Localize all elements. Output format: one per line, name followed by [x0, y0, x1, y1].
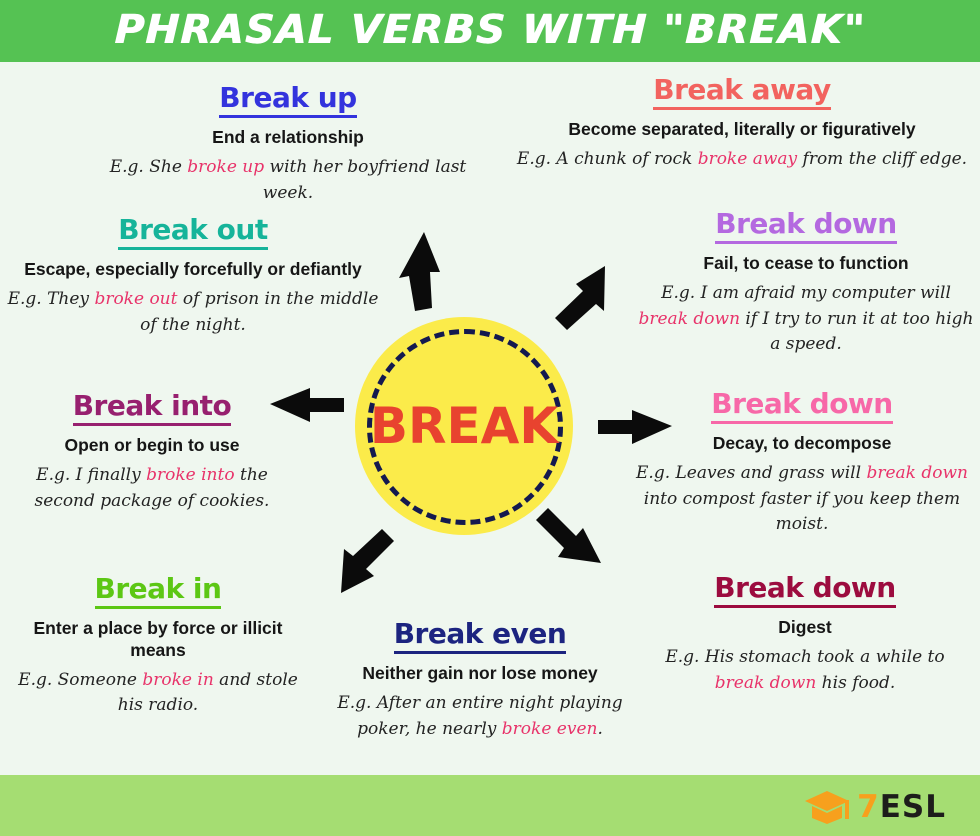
graduation-cap-icon: [804, 789, 850, 825]
infographic-root: PHRASAL VERBS WITH "BREAK" BREAK: [0, 0, 980, 836]
entry-definition: Decay, to decompose: [626, 433, 978, 455]
example-prefix: E.g. She: [110, 157, 188, 177]
entry-break-down-fail: Break down Fail, to cease to function E.…: [636, 208, 976, 358]
example-suffix: if I try to run it at too high a speed.: [740, 309, 973, 355]
entry-definition: Open or begin to use: [4, 435, 300, 457]
arrow-up-icon: [399, 232, 440, 311]
entry-break-in: Break in Enter a place by force or illic…: [8, 573, 308, 719]
example-highlight: break down: [866, 463, 968, 483]
example-highlight: broke even: [502, 719, 598, 739]
entry-title: Break down: [715, 208, 896, 244]
logo-seven: 7: [857, 789, 880, 825]
entry-break-away: Break away Become separated, literally o…: [516, 74, 968, 173]
example-prefix: E.g. A chunk of rock: [517, 149, 698, 169]
site-logo[interactable]: 7ESL: [804, 787, 946, 827]
entry-break-into: Break into Open or begin to use E.g. I f…: [4, 390, 300, 514]
entry-title: Break in: [95, 573, 222, 609]
entry-example: E.g. They broke out of prison in the mid…: [0, 287, 386, 338]
logo-text: 7ESL: [857, 792, 946, 823]
example-prefix: E.g. Someone: [18, 670, 142, 690]
page-title: PHRASAL VERBS WITH "BREAK": [0, 0, 980, 62]
example-suffix: into compost faster if you keep them moi…: [644, 489, 960, 535]
entry-break-down-decay: Break down Decay, to decompose E.g. Leav…: [626, 388, 978, 538]
entry-title: Break away: [653, 74, 830, 110]
example-prefix: E.g. His stomach took a while to: [665, 647, 944, 667]
entry-definition: End a relationship: [88, 127, 488, 149]
entry-example: E.g. His stomach took a while to break d…: [640, 645, 970, 696]
example-highlight: break down: [638, 309, 740, 329]
entry-title: Break down: [714, 572, 895, 608]
example-prefix: E.g. I finally: [36, 465, 146, 485]
entry-title: Break down: [711, 388, 892, 424]
central-hub: BREAK: [355, 317, 573, 535]
example-highlight: broke into: [146, 465, 234, 485]
entry-break-up: Break up End a relationship E.g. She bro…: [88, 82, 488, 206]
entry-definition: Enter a place by force or illicit means: [8, 618, 308, 662]
example-prefix: E.g. Leaves and grass will: [636, 463, 866, 483]
arrow-down-left-icon: [341, 529, 394, 593]
entry-break-down-digest: Break down Digest E.g. His stomach took …: [640, 572, 970, 696]
entry-example: E.g. A chunk of rock broke away from the…: [516, 147, 968, 173]
example-prefix: E.g. I am afraid my computer will: [661, 283, 951, 303]
example-highlight: broke in: [142, 670, 213, 690]
entry-example: E.g. She broke up with her boyfriend las…: [88, 155, 488, 206]
example-highlight: broke away: [698, 149, 797, 169]
entry-title: Break out: [118, 214, 267, 250]
entry-definition: Escape, especially forcefully or defiant…: [0, 259, 386, 281]
example-suffix: his food.: [816, 673, 895, 693]
hub-label: BREAK: [355, 317, 573, 535]
example-prefix: E.g. They: [8, 289, 95, 309]
entry-title: Break even: [394, 618, 567, 654]
entry-example: E.g. I am afraid my computer will break …: [636, 281, 976, 358]
entry-example: E.g. Leaves and grass will break down in…: [626, 461, 978, 538]
entry-definition: Neither gain nor lose money: [315, 663, 645, 685]
example-suffix: .: [597, 719, 602, 739]
entry-definition: Become separated, literally or figurativ…: [516, 119, 968, 141]
entry-definition: Digest: [640, 617, 970, 639]
entry-title: Break up: [219, 82, 356, 118]
entry-title: Break into: [73, 390, 232, 426]
entry-example: E.g. After an entire night playing poker…: [315, 691, 645, 742]
logo-esl: ESL: [880, 789, 946, 825]
entry-break-even: Break even Neither gain nor lose money E…: [315, 618, 645, 742]
entry-definition: Fail, to cease to function: [636, 253, 976, 275]
entry-example: E.g. Someone broke in and stole his radi…: [8, 668, 308, 719]
entry-example: E.g. I finally broke into the second pac…: [4, 463, 300, 514]
example-suffix: with her boyfriend last week.: [263, 157, 466, 203]
example-highlight: break down: [715, 673, 817, 693]
entry-break-out: Break out Escape, especially forcefully …: [0, 214, 386, 338]
example-highlight: broke up: [187, 157, 264, 177]
example-highlight: broke out: [94, 289, 177, 309]
example-suffix: from the cliff edge.: [797, 149, 967, 169]
